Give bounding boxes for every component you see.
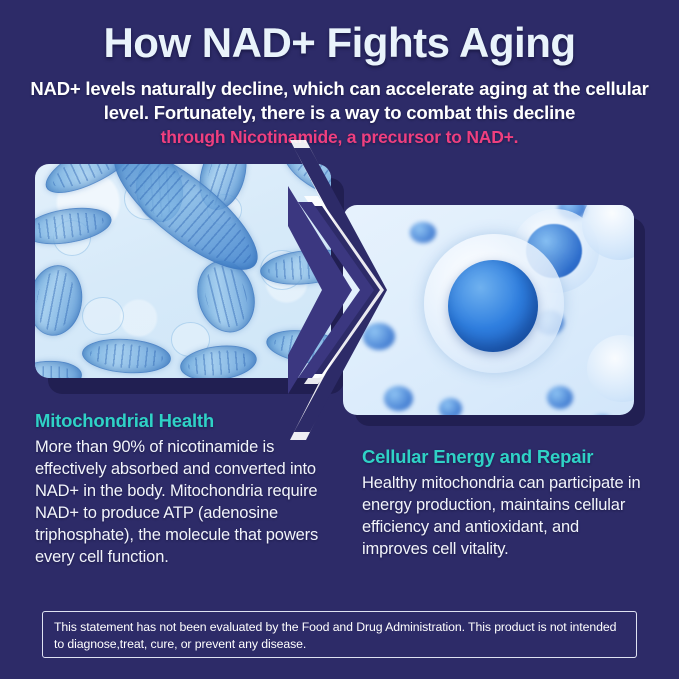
section-cellular-energy-repair: Cellular Energy and Repair Healthy mitoc… xyxy=(362,446,647,561)
cell-dot xyxy=(410,222,436,243)
page-title: How NAD+ Fights Aging xyxy=(0,21,679,65)
section-body-cellular-energy-repair: Healthy mitochondria can participate in … xyxy=(362,473,647,561)
nad-infographic: How NAD+ Fights Aging NAD+ levels natura… xyxy=(0,0,679,679)
bubble-shape xyxy=(82,297,123,336)
section-heading-mitochondrial-health: Mitochondrial Health xyxy=(35,410,335,432)
header-block: How NAD+ Fights Aging NAD+ levels natura… xyxy=(0,0,679,148)
section-body-mitochondrial-health: More than 90% of nicotinamide is effecti… xyxy=(35,437,335,569)
cell-dot xyxy=(439,398,462,415)
intro-paragraph: NAD+ levels naturally decline, which can… xyxy=(0,77,679,124)
mitochondria-image xyxy=(35,164,331,378)
section-mitochondrial-health: Mitochondrial Health More than 90% of ni… xyxy=(35,410,335,569)
cell-nucleus xyxy=(448,260,538,352)
chevron-arrow-group xyxy=(288,140,398,440)
disclaimer-text: This statement has not been evaluated by… xyxy=(54,619,625,652)
section-heading-cellular-energy-repair: Cellular Energy and Repair xyxy=(362,446,647,468)
disclaimer-box: This statement has not been evaluated by… xyxy=(42,611,637,658)
double-chevron-right-icon xyxy=(288,140,398,440)
cell-dot xyxy=(547,386,573,409)
